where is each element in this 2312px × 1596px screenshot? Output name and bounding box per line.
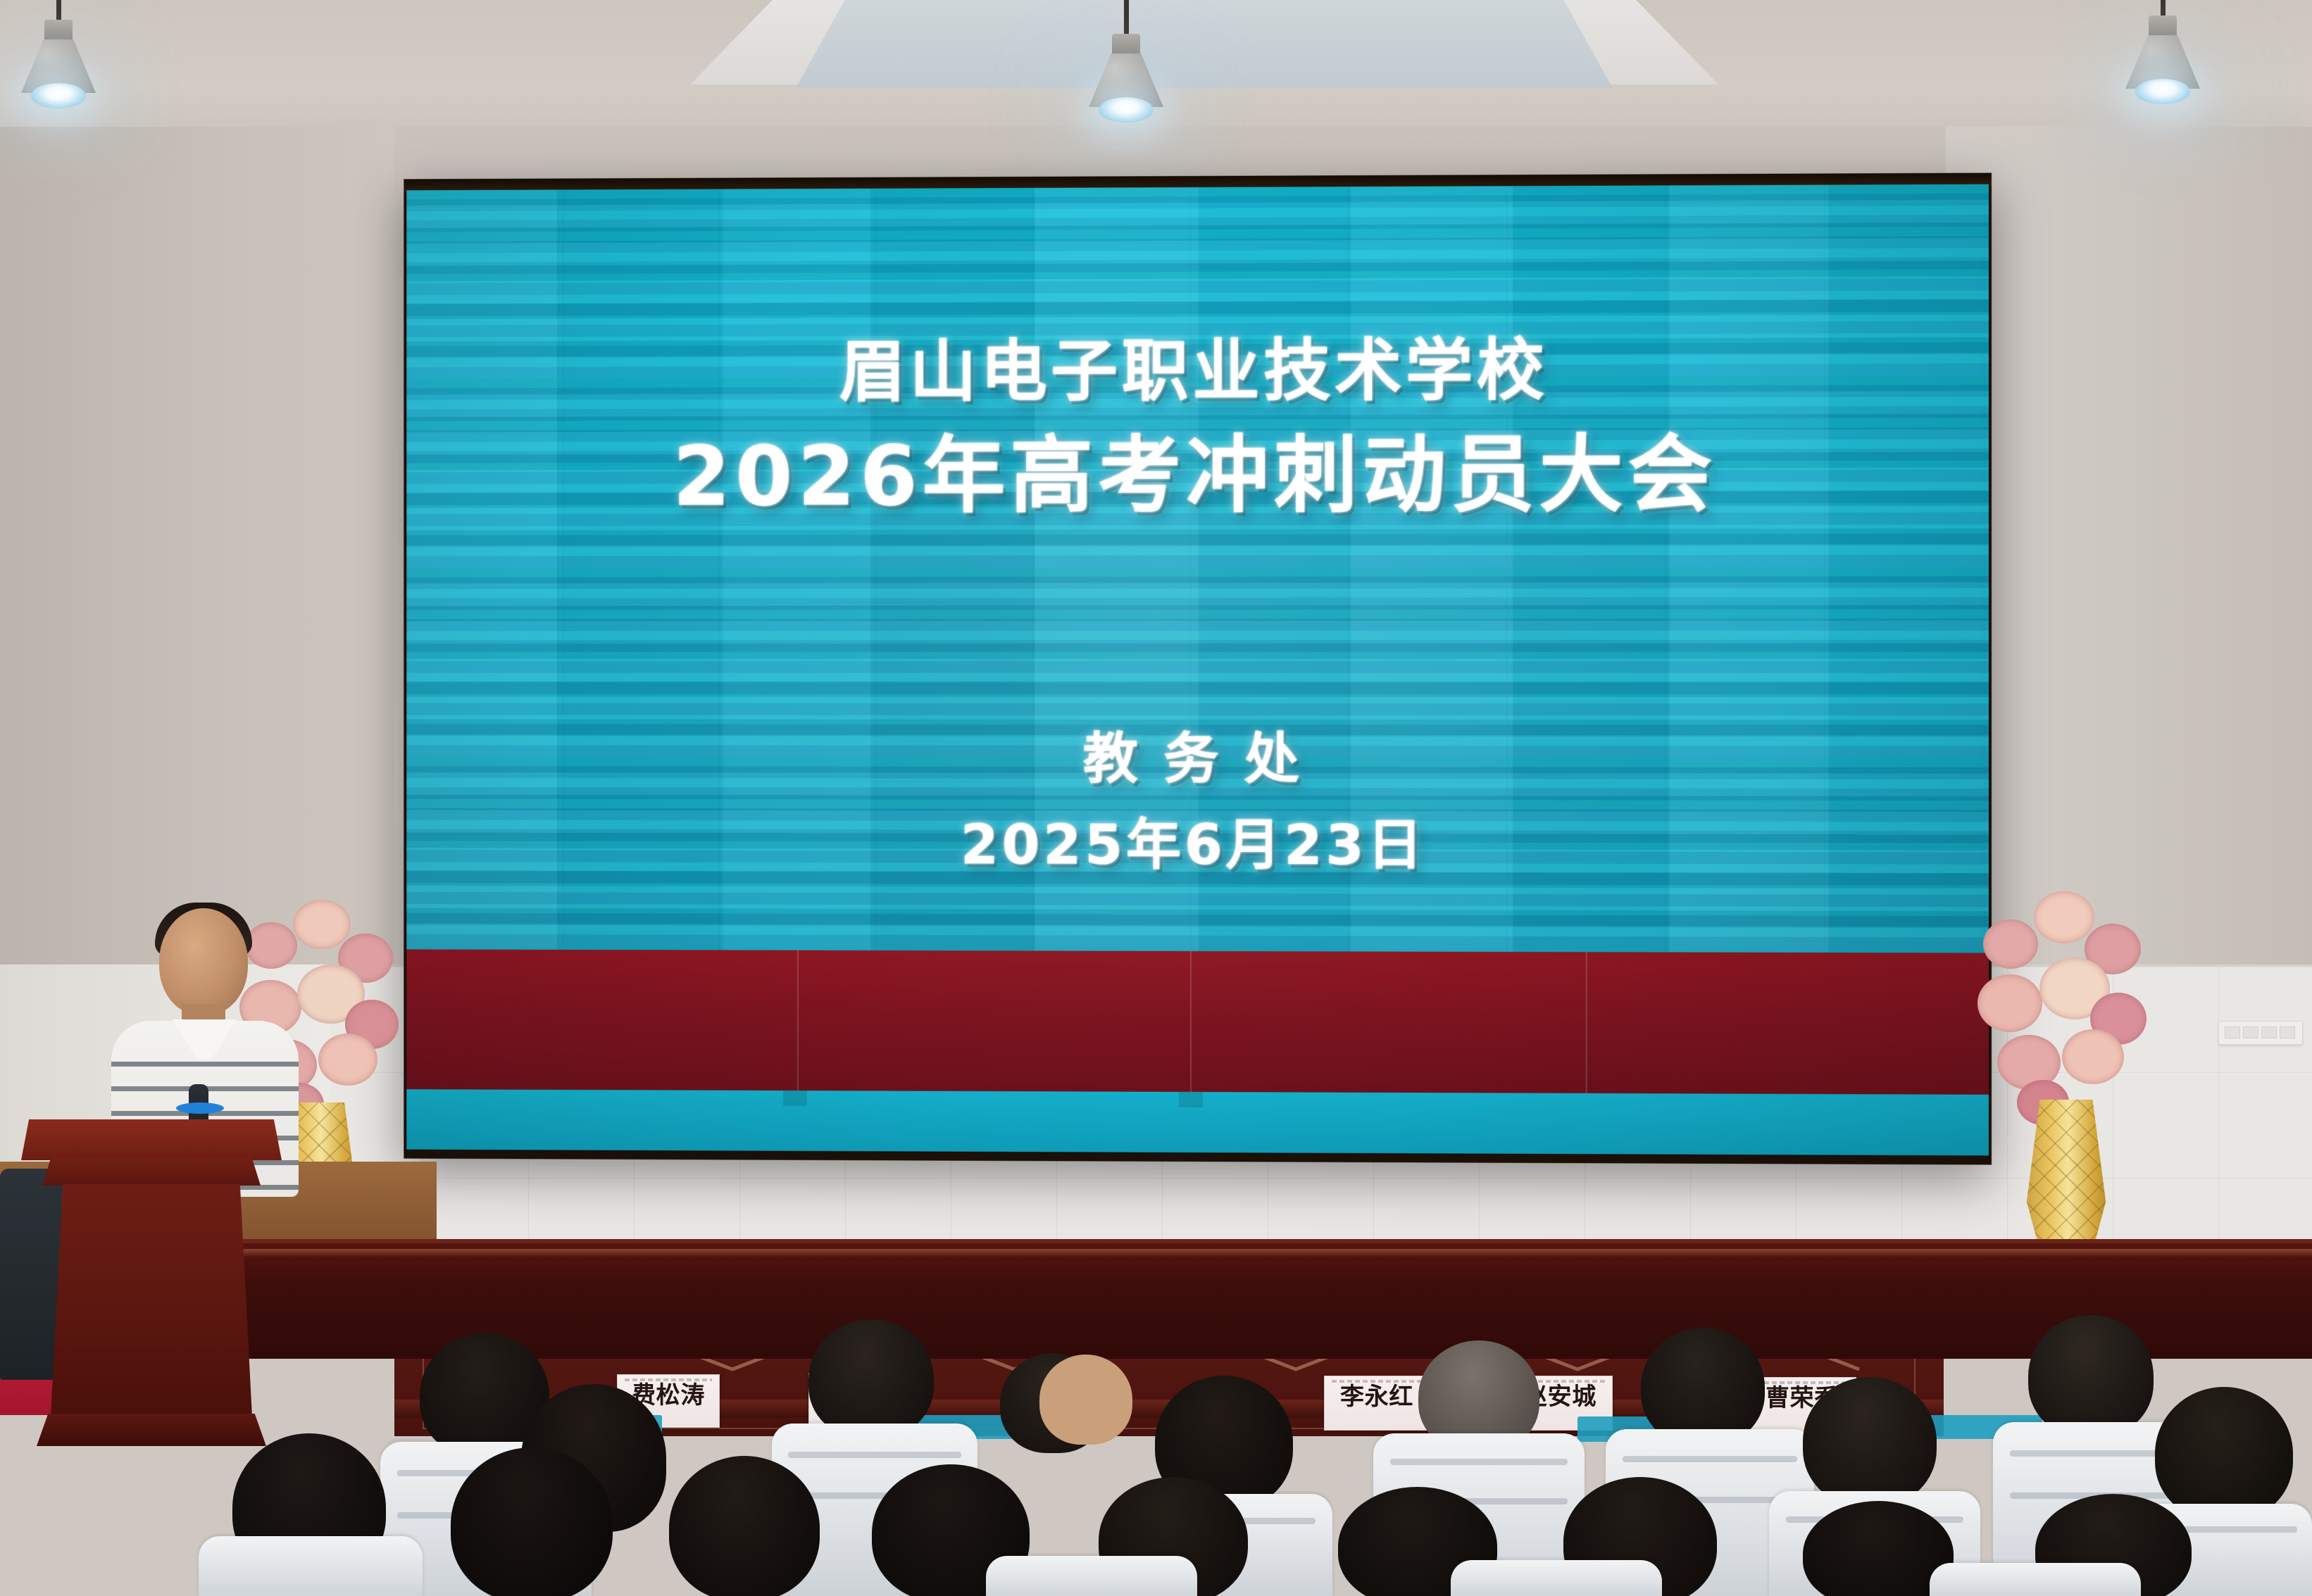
ceiling-soffit-inner (796, 0, 1613, 88)
audience-chair (1930, 1563, 2141, 1596)
audience-head (1039, 1355, 1132, 1445)
audience-chair (1451, 1560, 1662, 1596)
microphone-ring (176, 1102, 224, 1114)
nameplate: 李永红 (1324, 1376, 1430, 1431)
lectern-neck (42, 1157, 261, 1186)
audience-head (2155, 1387, 2293, 1521)
speaker-head (159, 908, 248, 1015)
flower-arrangement-right (1972, 880, 2155, 1274)
screen-surface: 眉山电子职业技术学校 2026年高考冲刺动员大会 教 务 处 2025年6月23… (406, 184, 1989, 1156)
audience-chair (986, 1556, 1197, 1596)
audience-head (669, 1456, 820, 1596)
flower-blooms (1972, 880, 2155, 1105)
nameplate-header-line (625, 1378, 712, 1381)
lectern-top (21, 1119, 282, 1160)
audience-head (808, 1319, 934, 1439)
light-switch-plate[interactable] (2218, 1021, 2303, 1045)
audience-head (2028, 1315, 2154, 1438)
audience-head (1641, 1328, 1765, 1446)
nameplate-name: 李永红 (1340, 1385, 1413, 1409)
audience-chair (199, 1536, 423, 1596)
audience-head (451, 1447, 613, 1596)
nameplate-header-line (1332, 1380, 1421, 1383)
nameplate-header-line (1756, 1381, 1849, 1384)
led-screen: 眉山电子职业技术学校 2026年高考冲刺动员大会 教 务 处 2025年6月23… (404, 173, 1992, 1165)
screen-vignette (406, 184, 1989, 1156)
audience-head (1803, 1377, 1937, 1507)
audience-area: 费松涛 中 李永红 赵安城 曹荣乔 (0, 1309, 2312, 1596)
auditorium-photo: 眉山电子职业技术学校 2026年高考冲刺动员大会 教 务 处 2025年6月23… (0, 0, 2312, 1596)
